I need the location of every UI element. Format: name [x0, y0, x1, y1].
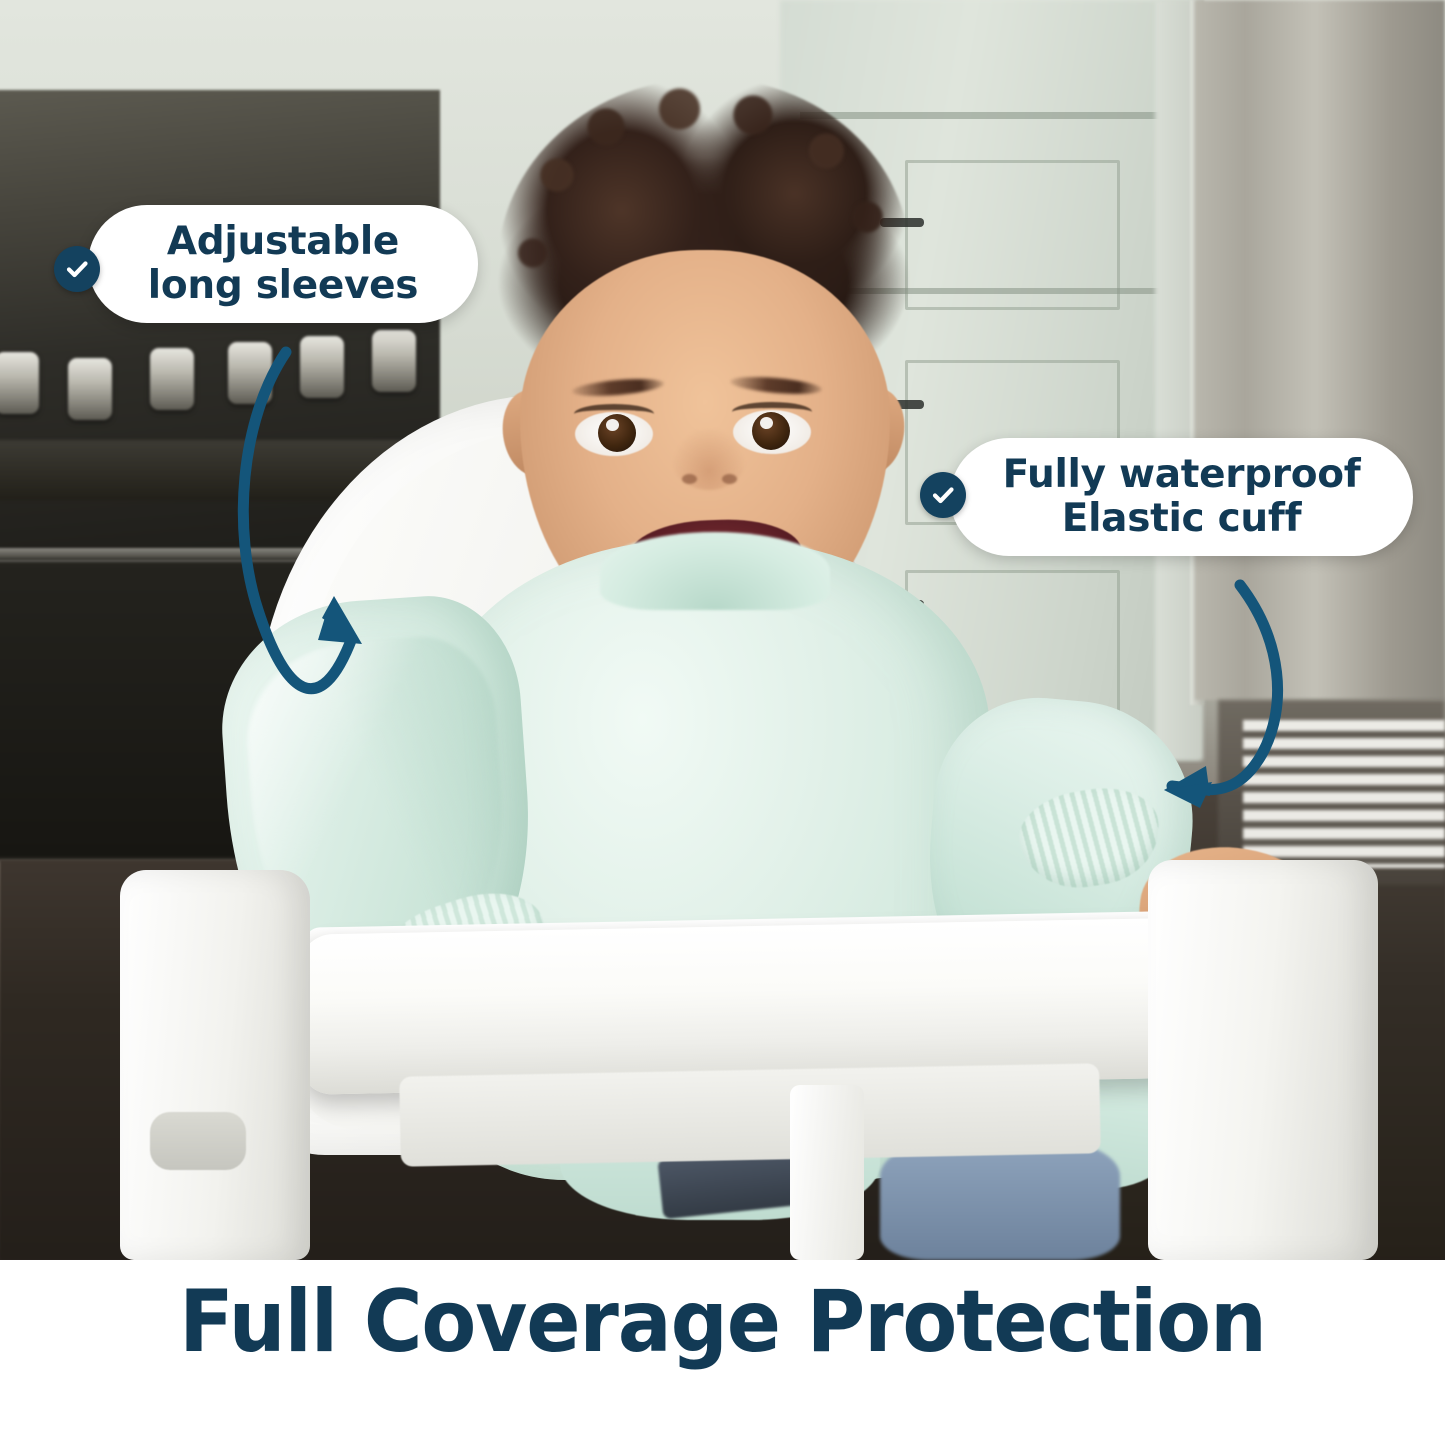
floor-vent — [1243, 720, 1445, 868]
cabinet-seam — [800, 112, 1160, 119]
range-knob — [150, 348, 194, 410]
high-chair-leg-left — [120, 870, 310, 1260]
range-knob — [0, 352, 39, 414]
baby-lashes-left — [574, 404, 654, 424]
callout-label-adjustable-long-sleeves: Adjustable long sleeves — [148, 220, 418, 307]
headline: Full Coverage Protection — [51, 1272, 1395, 1372]
range-knob — [372, 330, 416, 392]
range-knob — [68, 358, 112, 420]
bib-neckline — [600, 532, 830, 610]
product-feature-graphic: Adjustable long sleeves Fully waterproof… — [0, 0, 1445, 1445]
check-circle-icon — [54, 246, 100, 292]
high-chair-tray-front — [399, 1063, 1101, 1166]
product-photo-region — [0, 0, 1445, 1260]
baby-lashes-right — [732, 402, 812, 422]
high-chair-side-right — [1148, 860, 1378, 1260]
baby-nostril-right — [722, 474, 737, 484]
stainless-fridge — [1195, 0, 1445, 700]
kitchen-scene-photo — [0, 0, 1445, 1260]
callout-label-fully-waterproof-elastic-cuff: Fully waterproof Elastic cuff — [1003, 453, 1361, 540]
baby-jeans — [880, 1140, 1120, 1260]
high-chair-seat-post — [790, 1085, 864, 1260]
range-knob — [300, 336, 344, 398]
callout-badge-adjustable-long-sleeves[interactable]: Adjustable long sleeves — [88, 205, 478, 323]
check-circle-icon — [920, 472, 966, 518]
range-knob — [228, 342, 272, 404]
baby-nostril-left — [682, 474, 697, 484]
callout-badge-fully-waterproof-elastic-cuff[interactable]: Fully waterproof Elastic cuff — [950, 438, 1413, 556]
high-chair-leg-notch — [150, 1112, 246, 1170]
